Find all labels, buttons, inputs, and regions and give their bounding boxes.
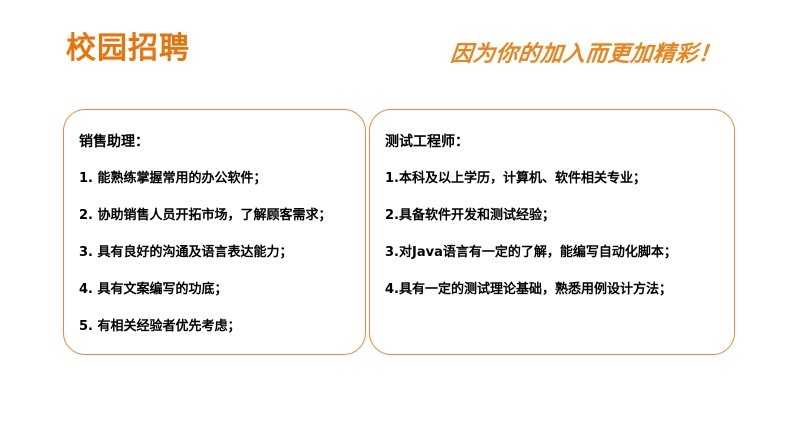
job-requirement-item: 2. 协助销售人员开拓市场，了解顾客需求； — [79, 206, 357, 225]
slide-canvas: 校园招聘 因为你的加入而更加精彩！ 销售助理： 1. 能熟练掌握常用的办公软件；… — [0, 0, 795, 428]
job-requirement-item: 1.本科及以上学历，计算机、软件相关专业； — [385, 169, 726, 188]
job-requirement-item: 1. 能熟练掌握常用的办公软件； — [79, 169, 357, 188]
job-requirement-item: 4. 具有文案编写的功底； — [79, 280, 357, 299]
job-requirement-item: 2.具备软件开发和测试经验； — [385, 206, 726, 225]
job-requirement-item: 3. 具有良好的沟通及语言表达能力； — [79, 243, 357, 262]
job-card-body: 销售助理： 1. 能熟练掌握常用的办公软件； 2. 协助销售人员开拓市场，了解顾… — [79, 132, 357, 336]
job-card-heading: 测试工程师： — [385, 132, 726, 152]
job-requirement-item: 4.具有一定的测试理论基础，熟悉用例设计方法； — [385, 280, 726, 299]
job-card-heading: 销售助理： — [79, 132, 357, 152]
job-card-body: 测试工程师： 1.本科及以上学历，计算机、软件相关专业； 2.具备软件开发和测试… — [385, 132, 726, 299]
job-requirement-item: 5. 有相关经验者优先考虑； — [79, 317, 357, 336]
page-slogan: 因为你的加入而更加精彩！ — [449, 39, 722, 69]
job-requirement-item: 3.对Java语言有一定的了解，能编写自动化脚本； — [385, 243, 726, 262]
job-card-test-engineer: 测试工程师： 1.本科及以上学历，计算机、软件相关专业； 2.具备软件开发和测试… — [369, 109, 735, 355]
job-cards-container: 销售助理： 1. 能熟练掌握常用的办公软件； 2. 协助销售人员开拓市场，了解顾… — [63, 109, 735, 357]
page-title: 校园招聘 — [66, 30, 190, 68]
job-card-sales-assistant: 销售助理： 1. 能熟练掌握常用的办公软件； 2. 协助销售人员开拓市场，了解顾… — [63, 109, 366, 355]
